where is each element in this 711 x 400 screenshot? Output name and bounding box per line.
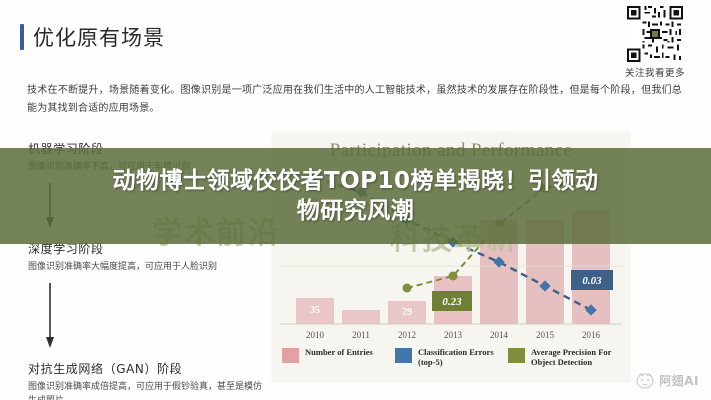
callout-label: 0.03	[582, 275, 602, 287]
mascot-face-icon	[634, 370, 656, 390]
body-paragraph: 技术在不断提升，场景随着变化。图像识别是一项广泛应用在我们生活中的人工智能技术，…	[27, 82, 682, 117]
stage-title: 对抗生成网络（GAN）阶段	[28, 360, 268, 377]
legend-label: Number of Entries	[305, 347, 373, 358]
legend-label: Classification Errors (top-5)	[418, 347, 507, 368]
qr-code-icon	[627, 6, 683, 62]
headline-overlay: 动物博士领域佼佼者TOP10榜单揭晓！引领动 物研究风潮	[0, 148, 711, 244]
x-tick: 2016	[582, 330, 601, 340]
down-arrow-icon	[44, 283, 56, 349]
stage-desc: 图像识别准确率成倍提高，可应用于假钞验真，甚至是模仿生成照片	[28, 381, 268, 400]
bar-label: 35	[310, 305, 320, 316]
legend-swatch-entries	[282, 348, 299, 363]
corner-watermark-text: 阿翅AI	[659, 372, 699, 389]
stage-desc: 图像识别准确率大幅度提高，可应用于人脸识别	[28, 261, 268, 275]
legend-item: Average Precision For Object Detection	[508, 347, 620, 368]
headline-line-2: 物研究风潮	[297, 196, 415, 226]
title-accent-bar	[20, 24, 24, 50]
page-title-text: 优化原有场景	[33, 22, 165, 52]
x-tick: 2012	[398, 330, 416, 340]
callout-label: 0.23	[442, 296, 462, 308]
headline-text: 动物博士领域佼佼者TOP10榜单揭晓！引领动 物研究风潮	[0, 148, 711, 244]
x-tick: 2011	[352, 330, 370, 340]
slide-canvas: 优化原有场景	[0, 0, 711, 400]
legend-item: Classification Errors (top-5)	[395, 347, 507, 368]
legend-label: Average Precision For Object Detection	[531, 347, 620, 368]
headline-line-1: 动物博士领域佼佼者TOP10榜单揭晓！引领动	[112, 166, 598, 196]
x-tick: 2015	[536, 330, 555, 340]
qr-block: 关注我看更多	[613, 6, 697, 79]
page-title: 优化原有场景	[20, 22, 165, 52]
legend-swatch-precision	[508, 348, 525, 363]
slide-screenshot: 优化原有场景	[0, 0, 711, 400]
x-tick: 2010	[306, 330, 325, 340]
value-callout-precision: 0.23	[432, 291, 472, 311]
chart-legend: Number of Entries Classification Errors …	[282, 347, 620, 368]
stage-item: 对抗生成网络（GAN）阶段 图像识别准确率成倍提高，可应用于假钞验真，甚至是模仿…	[28, 360, 268, 400]
x-tick: 2014	[490, 330, 509, 340]
legend-item: Number of Entries	[282, 347, 394, 363]
corner-watermark: 阿翅AI	[634, 370, 699, 390]
legend-swatch-errors	[395, 348, 412, 363]
value-callout-errors: 0.03	[571, 270, 613, 290]
bar-label: 29	[402, 307, 412, 318]
qr-caption: 关注我看更多	[613, 65, 697, 79]
stage-item: 深度学习阶段 图像识别准确率大幅度提高，可应用于人脸识别	[28, 240, 268, 275]
x-tick: 2013	[444, 330, 463, 340]
